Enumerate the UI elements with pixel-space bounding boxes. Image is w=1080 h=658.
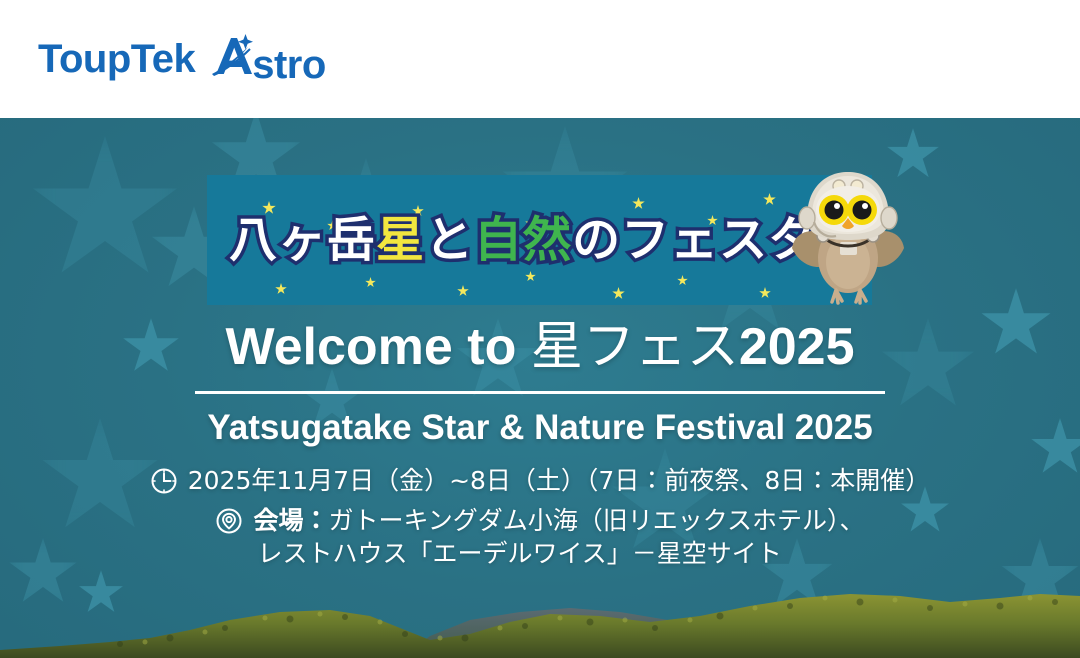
promo-page: ToupTek stro: [0, 0, 1080, 658]
background-star: [30, 136, 180, 286]
banner-star: [365, 277, 376, 288]
banner-text-part1: 八ヶ岳: [229, 212, 376, 268]
event-date-row: 2025年11月7日（金）~8日（土）（7日：前夜祭、8日：本開催）: [150, 464, 931, 498]
banner-star: [525, 271, 536, 282]
event-date-text: 2025年11月7日（金）~8日（土）（7日：前夜祭、8日：本開催）: [188, 464, 931, 498]
banner-star: [457, 285, 469, 297]
banner-text-star: 星: [376, 212, 425, 268]
venue-line-1: ガトーキングダム小海（旧リエックスホテル）、: [329, 506, 865, 535]
event-venue-row: 会場：ガトーキングダム小海（旧リエックスホテル）、レストハウス「エーデルワイス」…: [215, 504, 864, 572]
title-en-part: Welcome to: [225, 318, 530, 376]
event-info-block: 2025年11月7日（金）~8日（土）（7日：前夜祭、8日：本開催） 会場：ガト…: [0, 464, 1080, 571]
clock-icon: [150, 467, 178, 495]
touptek-astro-logo[interactable]: ToupTek stro: [38, 34, 326, 85]
location-pin-icon: [215, 507, 243, 535]
banner-star: [612, 287, 625, 300]
page-title: Welcome to 星フェス2025: [0, 318, 1080, 378]
banner-text-part2: と: [425, 212, 474, 268]
title-year-part: 2025: [739, 318, 855, 376]
owl-mascot-icon: [792, 170, 904, 308]
site-header: ToupTek stro: [0, 0, 1080, 118]
event-banner-background: 八ヶ岳星と自然のフェスタ: [207, 175, 872, 305]
astro-a-comet-icon: [212, 34, 254, 78]
banner-text-part3: のフェスタ: [572, 212, 817, 268]
page-subtitle: Yatsugatake Star & Nature Festival 2025: [0, 408, 1080, 448]
title-divider: [195, 391, 885, 394]
banner-star: [275, 283, 287, 295]
event-venue-text: 会場：ガトーキングダム小海（旧リエックスホテル）、レストハウス「エーデルワイス」…: [253, 504, 864, 572]
forest-ridge-silhouette: [0, 586, 1080, 658]
logo-astro-group: stro: [212, 34, 326, 85]
venue-line-2: レストハウス「エーデルワイス」－星空サイト: [253, 537, 864, 571]
title-jp-part: 星フェス: [531, 317, 739, 377]
event-banner[interactable]: 八ヶ岳星と自然のフェスタ: [207, 175, 872, 305]
banner-star: [763, 193, 776, 206]
banner-text-nature: 自然: [474, 212, 572, 268]
banner-star: [677, 275, 688, 286]
venue-label: 会場：: [253, 506, 328, 535]
banner-star: [632, 197, 645, 210]
banner-title-text: 八ヶ岳星と自然のフェスタ: [229, 216, 817, 264]
logo-astro-text: stro: [252, 45, 326, 85]
hero-section: Welcome to 星フェス2025 Yatsugatake Star & N…: [0, 318, 1080, 571]
logo-touptek-text: ToupTek: [38, 39, 195, 79]
banner-star: [759, 287, 771, 299]
